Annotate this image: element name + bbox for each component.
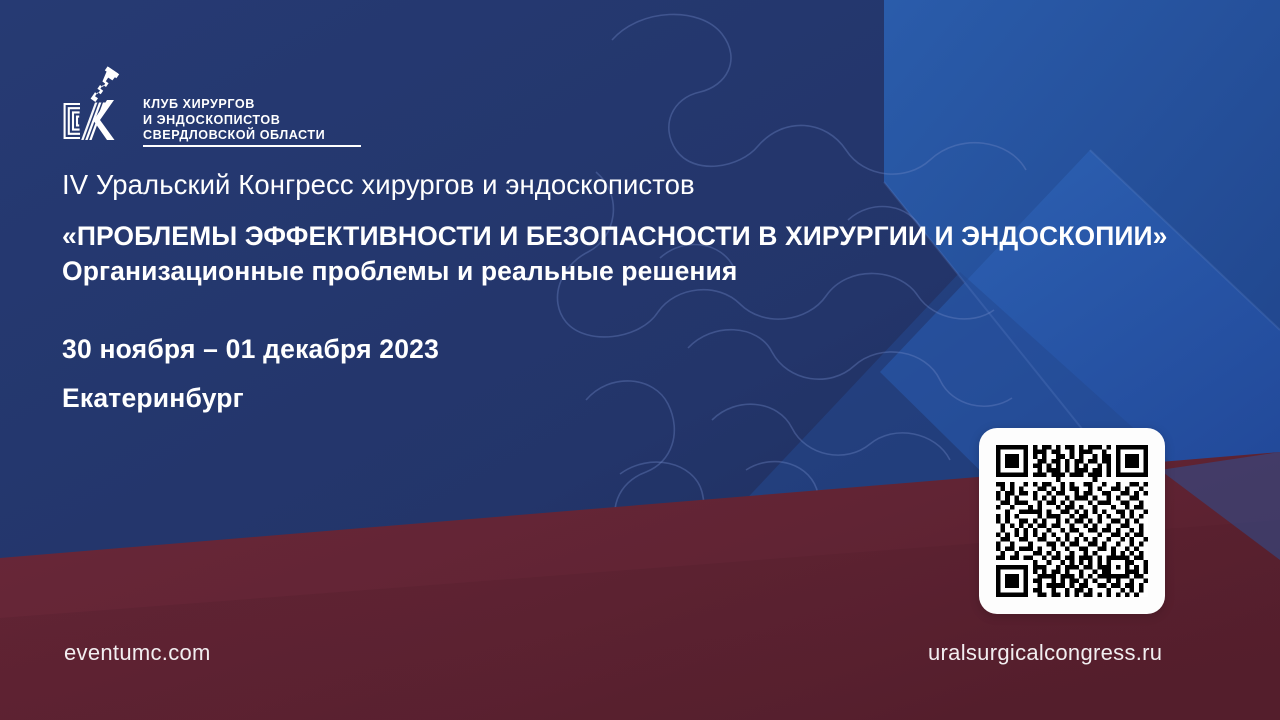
- theme-quoted-part: «ПРОБЛЕМЫ ЭФФЕКТИВНОСТИ И БЕЗОПАСНОСТИ В…: [62, 221, 1168, 251]
- congress-website-link[interactable]: uralsurgicalcongress.ru: [928, 640, 1162, 666]
- logo-wordmark: КЛУБ ХИРУРГОВ И ЭНДОСКОПИСТОВ СВЕРДЛОВСК…: [143, 97, 361, 148]
- event-dates: 30 ноября – 01 декабря 2023: [62, 329, 1222, 369]
- qr-code-icon[interactable]: [996, 445, 1148, 597]
- logo-line-2: И ЭНДОСКОПИСТОВ: [143, 113, 361, 128]
- event-city: Екатеринбург: [62, 381, 1222, 415]
- logo-line-3: СВЕРДЛОВСКОЙ ОБЛАСТИ: [143, 128, 361, 143]
- logo-line-1: КЛУБ ХИРУРГОВ: [143, 97, 361, 112]
- congress-title: IV Уральский Конгресс хирургов и эндоско…: [62, 168, 1222, 202]
- surgeons-club-emblem-icon: [62, 64, 134, 148]
- logo-underline: [143, 145, 361, 147]
- theme-subtitle-part: Организационные проблемы и реальные реше…: [62, 256, 738, 286]
- qr-code-card[interactable]: [979, 428, 1165, 614]
- organization-logo: КЛУБ ХИРУРГОВ И ЭНДОСКОПИСТОВ СВЕРДЛОВСК…: [62, 64, 361, 148]
- poster-content: IV Уральский Конгресс хирургов и эндоско…: [62, 168, 1222, 415]
- organizer-website-link[interactable]: eventumc.com: [64, 640, 211, 666]
- event-poster: КЛУБ ХИРУРГОВ И ЭНДОСКОПИСТОВ СВЕРДЛОВСК…: [0, 0, 1280, 720]
- congress-theme: «ПРОБЛЕМЫ ЭФФЕКТИВНОСТИ И БЕЗОПАСНОСТИ В…: [62, 219, 1222, 289]
